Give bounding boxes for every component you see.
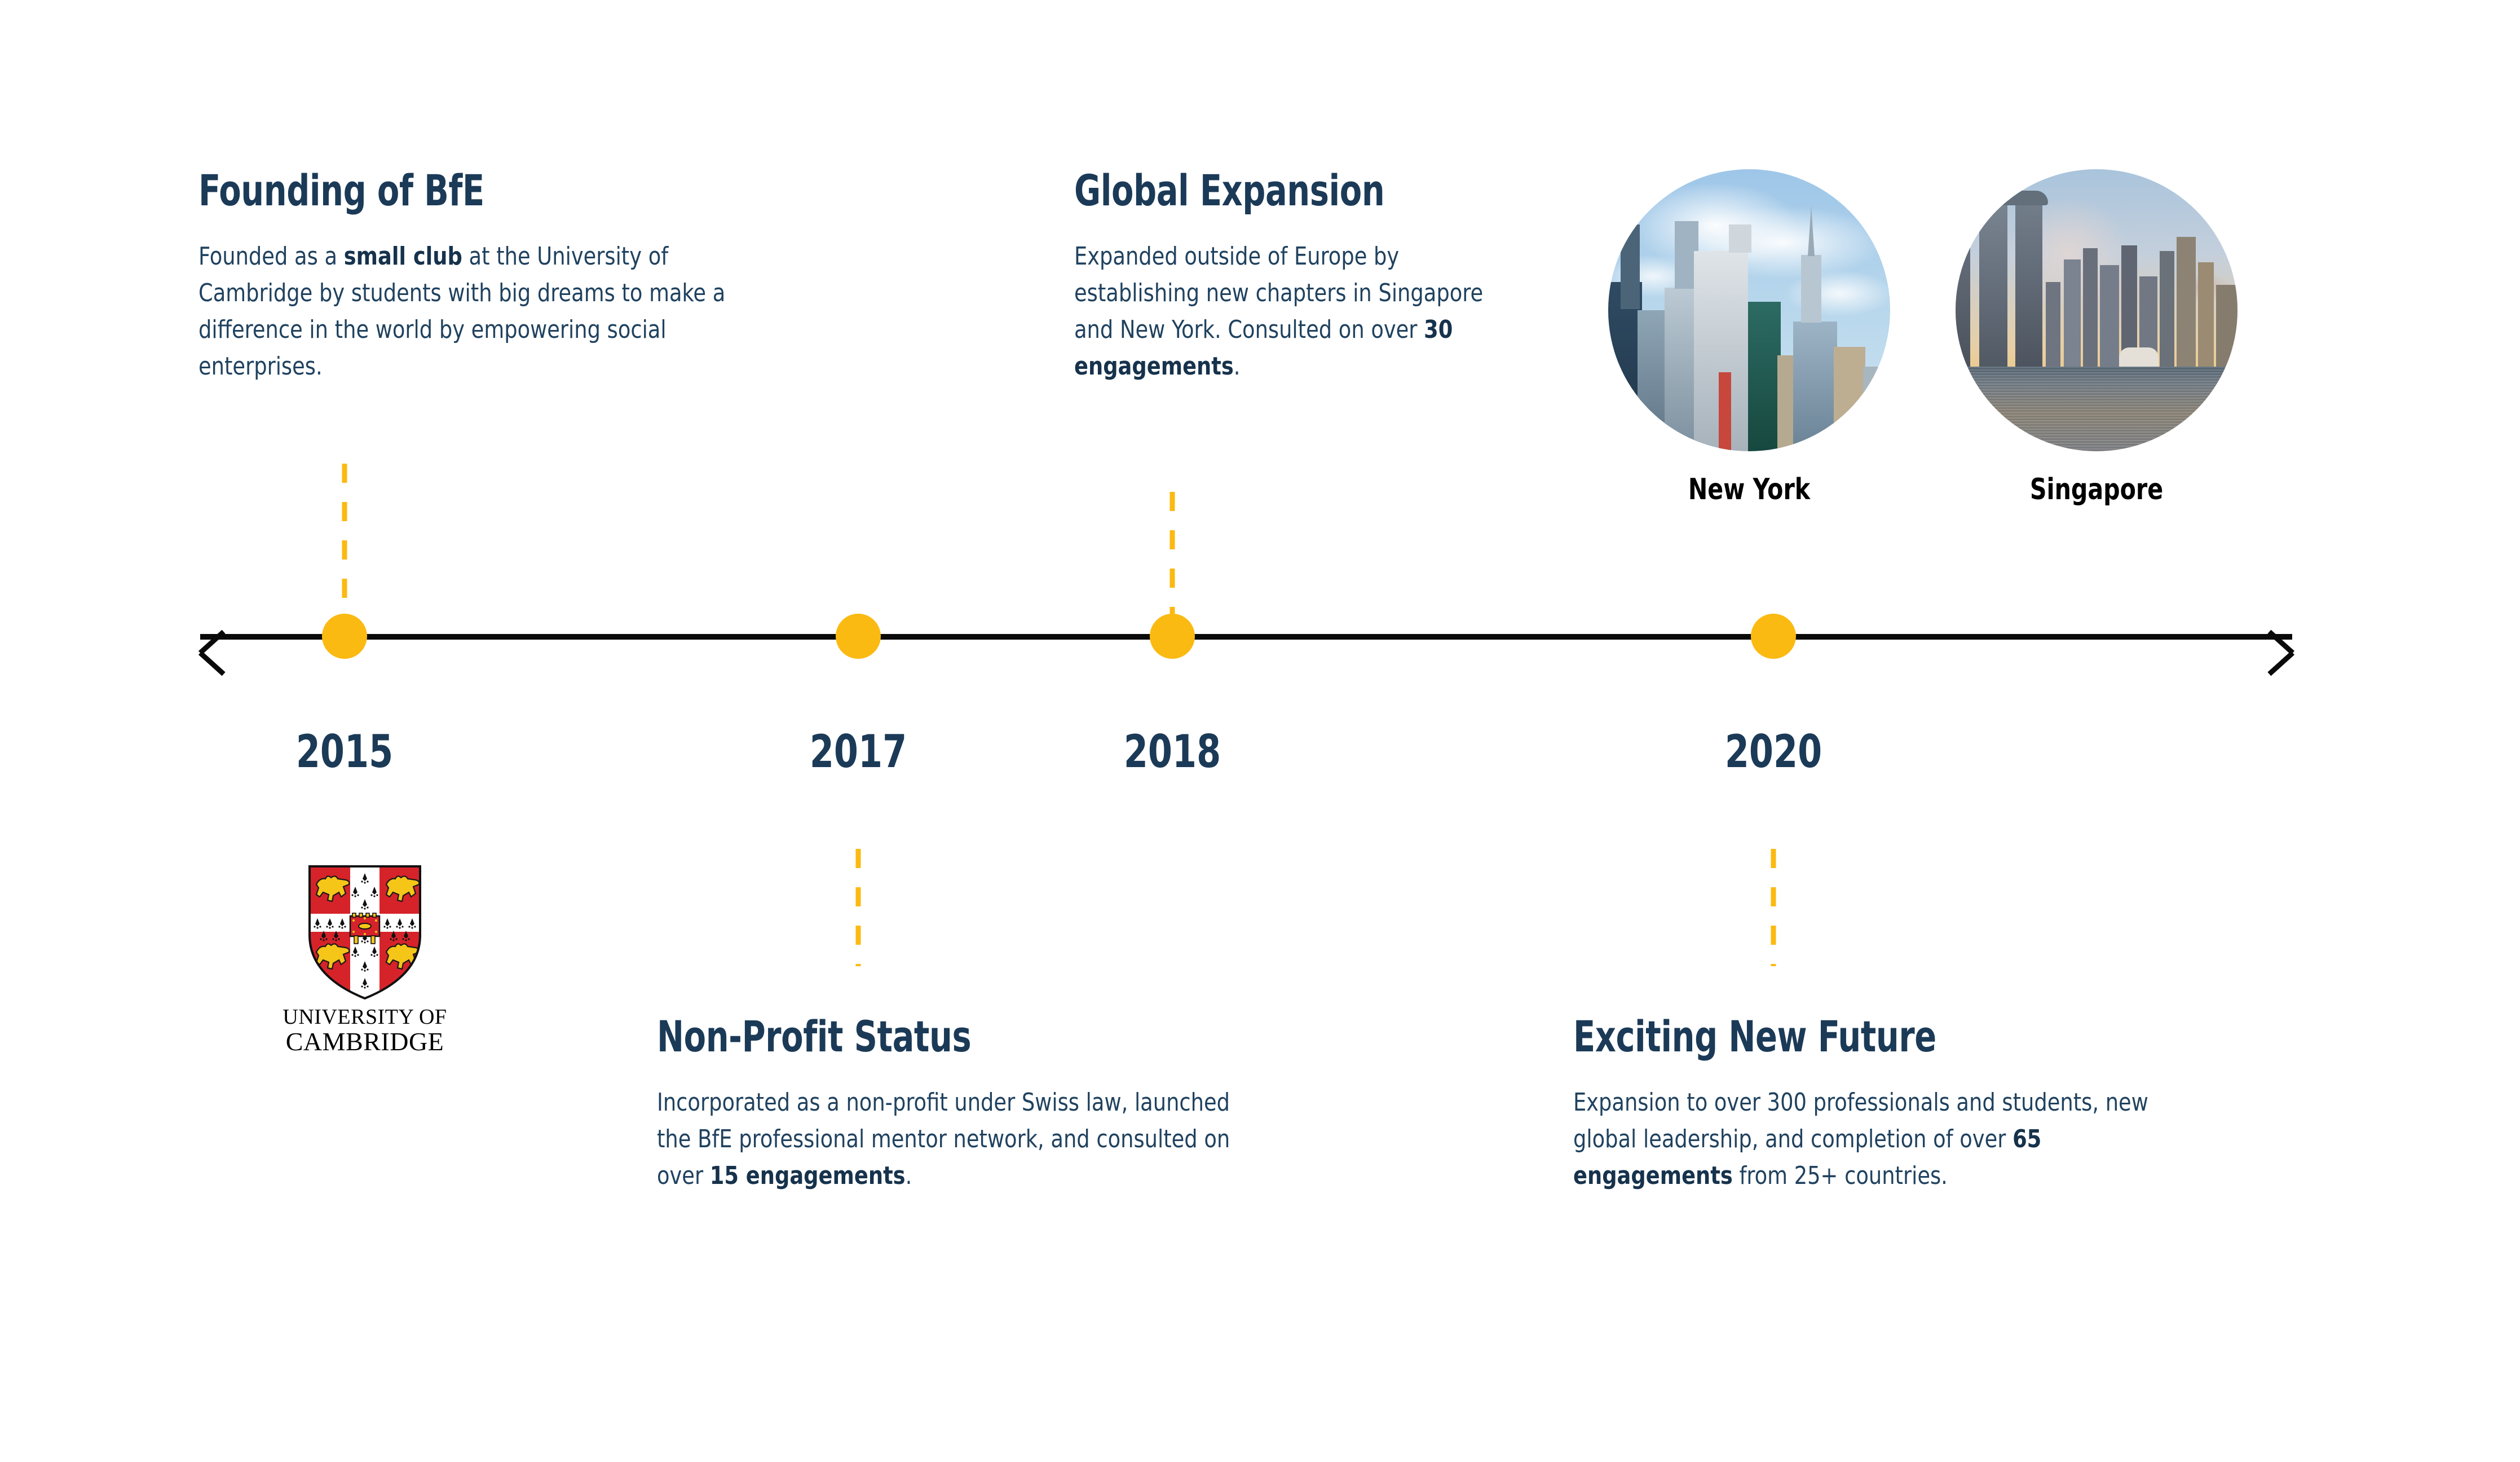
- event-body-exciting-future: Expansion to over 300 professionals and …: [1573, 1084, 2182, 1194]
- nonprofit-body-part-2: .: [906, 1161, 912, 1190]
- timeline-arrow-right-icon: [2261, 622, 2293, 681]
- ny-building: [1863, 367, 1890, 451]
- nonprofit-body-highlight: 15 engagements: [710, 1161, 906, 1190]
- new-york-photo-circle: [1608, 169, 1890, 451]
- sg-building: [2083, 248, 2098, 367]
- year-label-2020: 2020: [1725, 729, 1822, 774]
- ny-building: [1793, 322, 1837, 451]
- new-york-photo: New York: [1608, 169, 1890, 451]
- timeline-axis-line: [200, 634, 2292, 640]
- event-title-non-profit: Non-Profit Status: [657, 1015, 1168, 1058]
- timeline-arrow-left-icon: [200, 622, 230, 681]
- sg-building: [2100, 265, 2119, 367]
- founding-body-part-1: Founded as a: [198, 242, 344, 271]
- connector-dash-2017-down: [856, 849, 861, 966]
- sg-building: [2198, 262, 2214, 367]
- singapore-photo: Singapore: [1956, 169, 2237, 451]
- event-title-global-expansion: Global Expansion: [1074, 169, 1434, 212]
- future-body-part-1: Expansion to over 300 professionals and …: [1573, 1088, 2148, 1153]
- sg-building: [2064, 259, 2081, 367]
- sg-building: [2177, 237, 2196, 367]
- event-block-exciting-future: Exciting New Future Expansion to over 30…: [1573, 1015, 2205, 1194]
- year-label-2017: 2017: [810, 729, 907, 774]
- year-label-2018: 2018: [1124, 729, 1221, 774]
- ny-building: [1621, 224, 1640, 309]
- future-body-part-2: from 25+ countries.: [1733, 1161, 1948, 1190]
- event-block-non-profit: Non-Profit Status Incorporated as a non-…: [657, 1015, 1266, 1194]
- ny-building: [1719, 372, 1731, 451]
- global-body-part-2: .: [1234, 352, 1241, 381]
- new-york-photo-caption: New York: [1625, 473, 1873, 507]
- cambridge-shield-icon: [280, 862, 449, 1003]
- sg-mbs-skypark: [1956, 191, 2048, 205]
- global-body-part-1: Expanded outside of Europe by establishi…: [1074, 242, 1483, 344]
- event-block-founding: Founding of BfE Founded as a small club …: [198, 169, 807, 385]
- ny-building: [1748, 302, 1781, 451]
- cambridge-wordmark-line-1: UNIVERSITY OF: [280, 1006, 449, 1028]
- sg-building: [2160, 251, 2174, 367]
- university-of-cambridge-logo: UNIVERSITY OF CAMBRIDGE: [280, 862, 449, 1056]
- sg-marina-water: [1956, 367, 2237, 451]
- ny-building-chrysler: [1801, 255, 1821, 323]
- event-body-founding: Founded as a small club at the Universit…: [198, 238, 786, 385]
- timeline-infographic: Founding of BfE Founded as a small club …: [0, 0, 2520, 1462]
- year-label-2015: 2015: [296, 729, 393, 774]
- ny-building: [1729, 224, 1751, 253]
- ny-building: [1834, 347, 1865, 451]
- connector-dash-2018-up: [1170, 492, 1175, 615]
- cambridge-wordmark-line-2: CAMBRIDGE: [280, 1028, 449, 1056]
- sg-building: [2046, 282, 2060, 367]
- sg-building: [2216, 285, 2237, 367]
- connector-dash-2020-down: [1771, 849, 1776, 966]
- sg-mbs-tower: [1956, 203, 1970, 367]
- timeline-node-2020[interactable]: [1751, 614, 1796, 659]
- singapore-photo-circle: [1956, 169, 2237, 451]
- event-block-global-expansion: Global Expansion Expanded outside of Eur…: [1074, 169, 1503, 385]
- founding-body-highlight: small club: [344, 242, 462, 271]
- sg-mbs-tower: [2015, 200, 2042, 367]
- event-title-founding: Founding of BfE: [198, 169, 710, 212]
- timeline-node-2017[interactable]: [836, 614, 881, 659]
- timeline-node-2018[interactable]: [1150, 614, 1195, 659]
- connector-dash-2015-up: [342, 464, 347, 615]
- ny-building: [1665, 288, 1698, 451]
- event-body-non-profit: Incorporated as a non-profit under Swiss…: [657, 1084, 1234, 1194]
- event-title-exciting-future: Exciting New Future: [1573, 1015, 2104, 1058]
- timeline-node-2015[interactable]: [322, 614, 367, 659]
- sg-artscience-museum: [2119, 347, 2159, 367]
- sg-mbs-tower: [1979, 197, 2007, 367]
- singapore-photo-caption: Singapore: [1972, 473, 2221, 507]
- event-body-global-expansion: Expanded outside of Europe by establishi…: [1074, 238, 1489, 385]
